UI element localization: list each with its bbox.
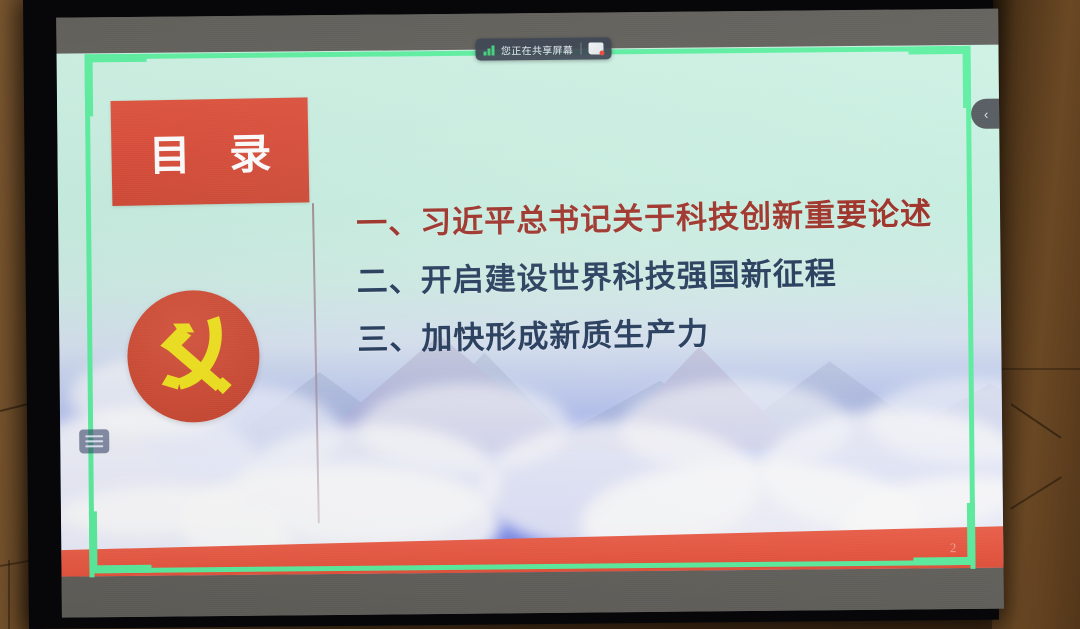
collapse-glyph: ‹: [984, 106, 988, 121]
agenda-item-1: 一、习近平总书记关于科技创新重要论述: [356, 198, 956, 239]
screen-share-toolbar[interactable]: 您正在共享屏幕: [475, 37, 611, 60]
display-screen: 2 目 录: [56, 9, 1004, 618]
meeting-room-photo: 2 目 录: [0, 0, 1080, 629]
agenda-list: 一、习近平总书记关于科技创新重要论述 二、开启建设世界科技强国新征程 三、加快形…: [356, 200, 958, 380]
agenda-item-3: 三、加快形成新质生产力: [357, 314, 957, 355]
cpc-party-emblem-icon: [127, 290, 260, 423]
wall-seam: [1011, 403, 1062, 438]
agenda-item-2: 二、开启建设世界科技强国新征程: [356, 256, 956, 297]
slide-title-box: 目 录: [111, 97, 310, 206]
toolbar-divider: [580, 43, 581, 55]
presentation-slide: 2 目 录: [57, 45, 1004, 577]
slide-page-number: 2: [950, 540, 958, 556]
wall-seam: [8, 560, 10, 629]
wall-seam: [992, 368, 1080, 370]
stop-share-icon[interactable]: [588, 42, 603, 54]
share-status-label: 您正在共享屏幕: [501, 41, 573, 57]
wall-seam: [1010, 476, 1062, 509]
list-menu-icon[interactable]: [79, 429, 109, 453]
chevron-left-icon[interactable]: ‹: [971, 99, 1004, 129]
display-bezel: 2 目 录: [23, 0, 999, 629]
page-title: 目 录: [134, 120, 286, 184]
signal-bars-icon: [483, 44, 494, 55]
wooden-wall-right: [992, 0, 1080, 629]
